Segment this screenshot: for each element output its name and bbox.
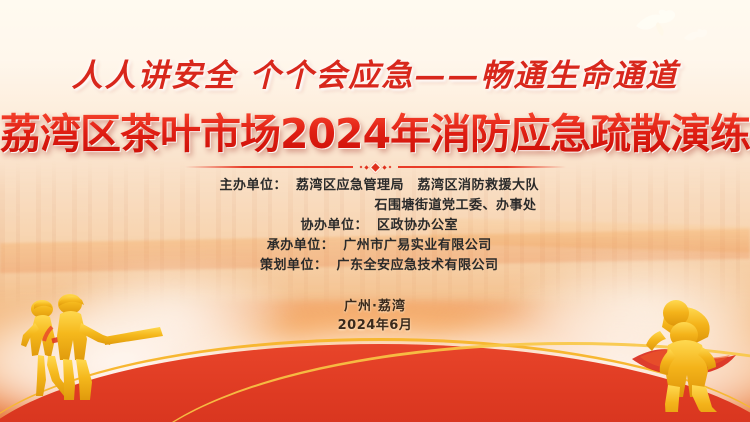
diamond-ornament-icon: [360, 163, 391, 172]
decorative-divider: [0, 158, 750, 176]
organizer-value: 石围塘街道党工委、办事处: [374, 196, 536, 216]
organizer-label: 主办单位：: [211, 176, 287, 196]
organizer-label: 承办单位：: [258, 236, 334, 256]
organizer-row: 协办单位： 区政协办公室: [0, 216, 750, 236]
event-location: 广州·荔湾: [0, 297, 750, 316]
organizer-value: 荔湾区应急管理局 荔湾区消防救援大队: [296, 176, 539, 196]
ornament-diamond: [369, 161, 382, 174]
event-date: 2024年6月: [0, 316, 750, 335]
organizer-label: 策划单位：: [251, 256, 327, 276]
poster-content: 人人讲安全 个个会应急——畅通生命通道 荔湾区茶叶市场2024年消防应急疏散演练…: [0, 0, 750, 422]
divider-line-left: [185, 166, 353, 168]
organizer-value: 区政协办公室: [377, 216, 458, 236]
ornament-dot: [382, 165, 386, 169]
ornament-dot: [388, 166, 391, 169]
ornament-dot: [359, 166, 362, 169]
organizer-value: 广东全安应急技术有限公司: [336, 256, 498, 276]
organizer-label: 协办单位：: [292, 216, 368, 236]
organizer-block: 主办单位： 荔湾区应急管理局 荔湾区消防救援大队 石围塘街道党工委、办事处 协办…: [0, 176, 750, 276]
organizer-row: 策划单位： 广东全安应急技术有限公司: [0, 256, 750, 276]
poster-subtitle: 人人讲安全 个个会应急——畅通生命通道: [0, 50, 750, 95]
organizer-row: 主办单位： 荔湾区应急管理局 荔湾区消防救援大队: [0, 176, 750, 196]
poster-canvas: 人人讲安全 个个会应急——畅通生命通道 荔湾区茶叶市场2024年消防应急疏散演练…: [0, 0, 750, 422]
organizer-value: 广州市广易实业有限公司: [343, 236, 492, 256]
ornament-dot: [364, 165, 368, 169]
poster-main-title: 荔湾区茶叶市场2024年消防应急疏散演练: [0, 100, 750, 160]
organizer-row: 石围塘街道党工委、办事处: [0, 196, 750, 216]
organizer-row: 承办单位： 广州市广易实业有限公司: [0, 236, 750, 256]
divider-line-right: [398, 166, 566, 168]
